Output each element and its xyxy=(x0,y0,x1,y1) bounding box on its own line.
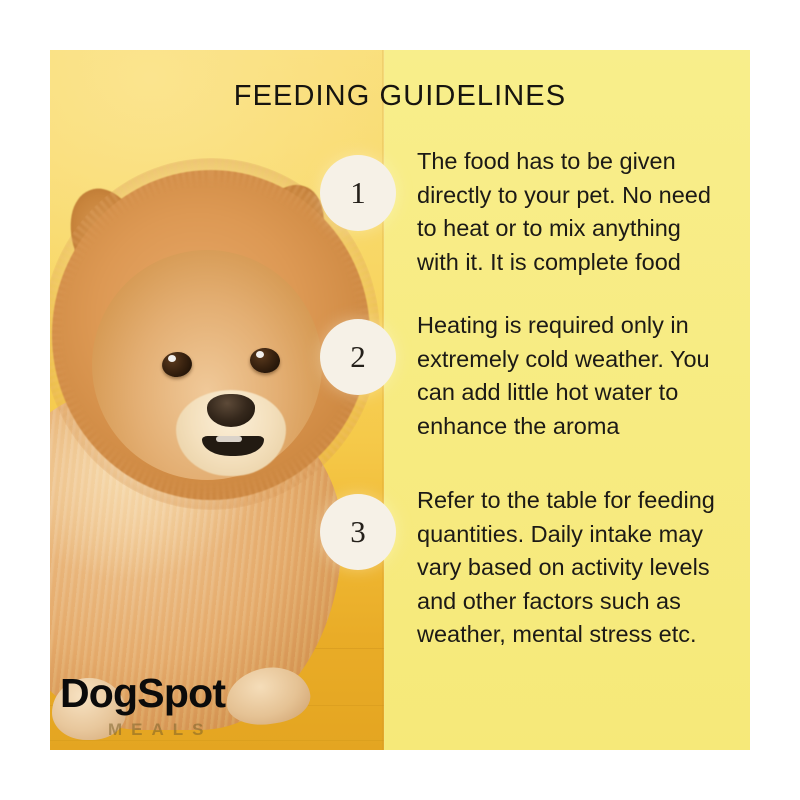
guidelines-list: 1 The food has to be given directly to y… xyxy=(50,145,750,688)
step-text-2: Heating is required only in extremely co… xyxy=(417,309,729,443)
step-number-badge-3: 3 xyxy=(320,494,396,570)
step-text-1: The food has to be given directly to you… xyxy=(417,145,729,279)
step-text-3: Refer to the table for feeding quantitie… xyxy=(417,484,729,652)
list-item: 2 Heating is required only in extremely … xyxy=(50,303,750,478)
step-number-badge-2: 2 xyxy=(320,319,396,395)
feeding-guidelines-infographic: DogSpot MEALS FEEDING GUIDELINES 1 The f… xyxy=(50,50,750,750)
page-title: FEEDING GUIDELINES xyxy=(50,80,750,113)
list-item: 1 The food has to be given directly to y… xyxy=(50,145,750,303)
step-number-badge-1: 1 xyxy=(320,155,396,231)
brand-tagline: MEALS xyxy=(108,721,360,738)
list-item: 3 Refer to the table for feeding quantit… xyxy=(50,478,750,688)
